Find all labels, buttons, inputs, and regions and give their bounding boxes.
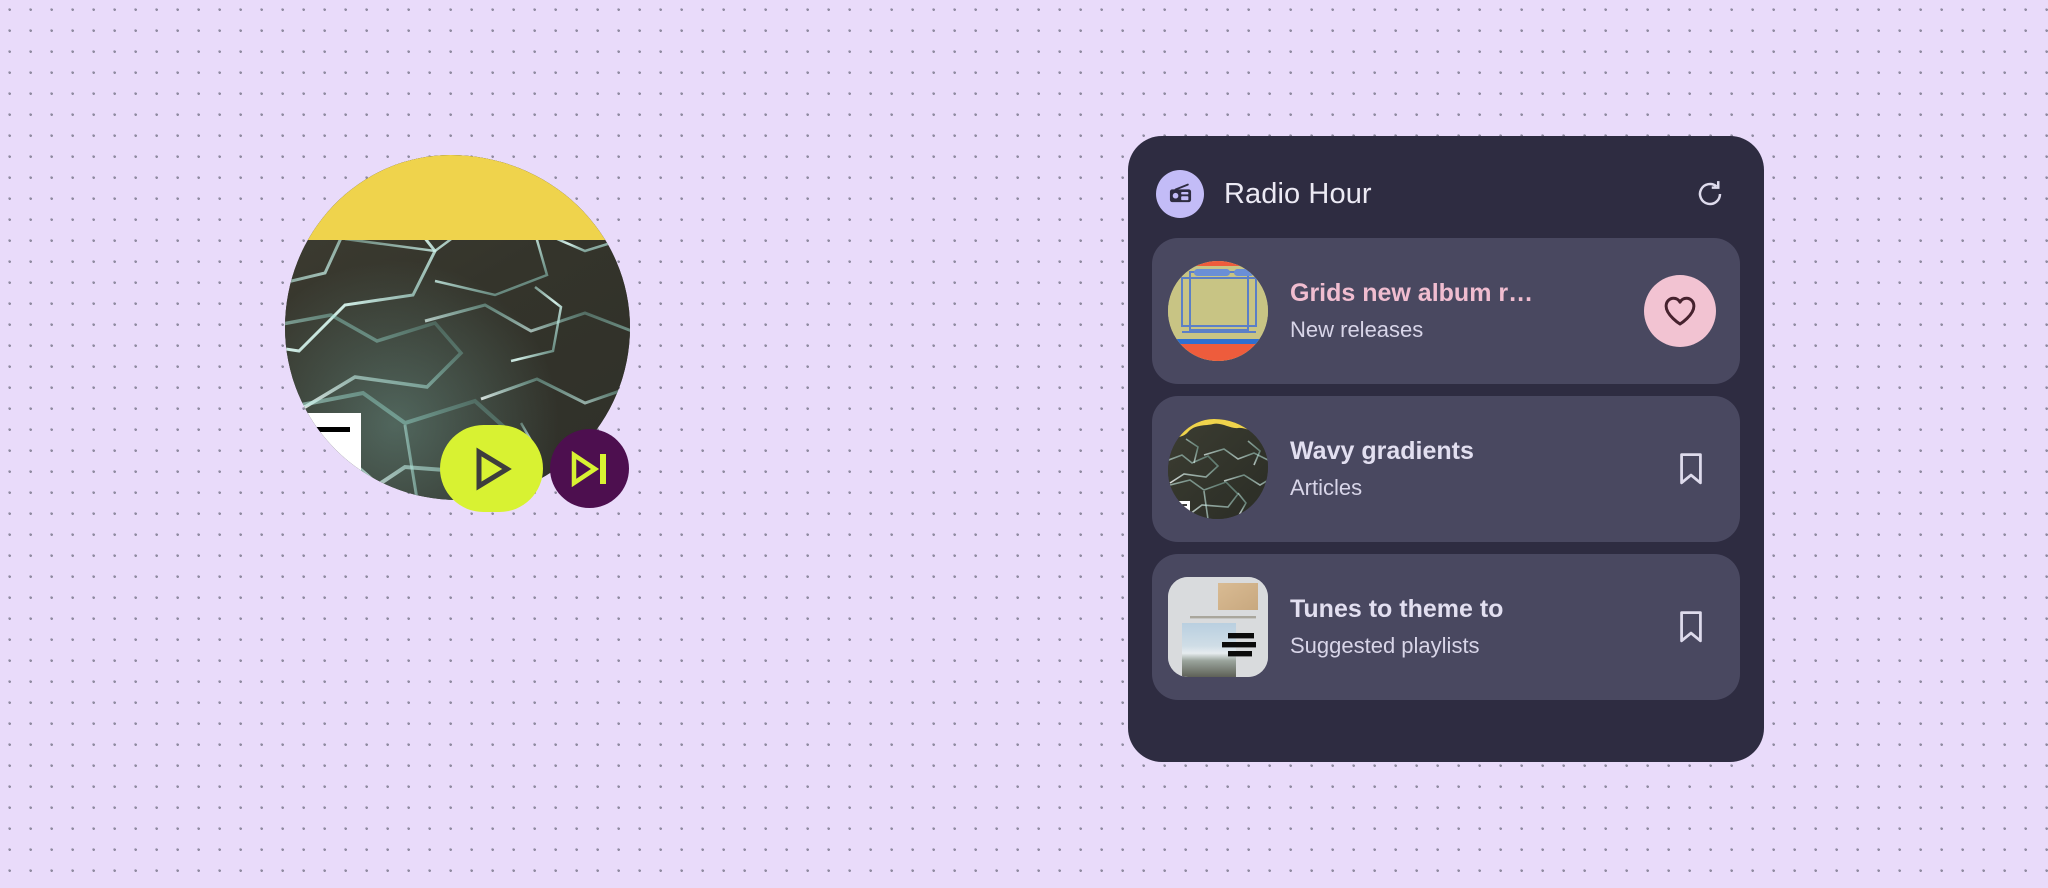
item-text: Grids new album r… New releases (1290, 278, 1644, 344)
widget-header: Radio Hour (1152, 158, 1740, 230)
item-title: Wavy gradients (1290, 436, 1666, 467)
wavy-thumbnail-art (1168, 419, 1268, 519)
list-item[interactable]: Tunes to theme to Suggested playlists (1152, 554, 1740, 700)
item-subtitle: New releases (1290, 317, 1644, 343)
list-item[interactable]: Wavy gradients Articles (1152, 396, 1740, 542)
list-item[interactable]: Grids new album r… New releases (1152, 238, 1740, 384)
item-title: Grids new album r… (1290, 278, 1644, 309)
tunes-thumbnail (1168, 577, 1268, 677)
radio-icon (1167, 181, 1194, 208)
item-text: Wavy gradients Articles (1290, 436, 1666, 502)
refresh-icon (1695, 179, 1725, 209)
grids-thumbnail-art (1168, 261, 1268, 361)
radio-hour-widget: Radio Hour (1128, 136, 1764, 762)
item-subtitle: Articles (1290, 475, 1666, 501)
radio-badge (1156, 170, 1204, 218)
bookmark-button[interactable] (1666, 444, 1716, 494)
bookmark-button[interactable] (1666, 602, 1716, 652)
heart-icon (1663, 295, 1697, 327)
item-title: Tunes to theme to (1290, 594, 1666, 625)
tunes-thumbnail-art (1168, 577, 1268, 677)
refresh-button[interactable] (1688, 172, 1732, 216)
wavy-thumbnail (1168, 419, 1268, 519)
item-text: Tunes to theme to Suggested playlists (1290, 594, 1666, 660)
play-button[interactable] (440, 425, 543, 512)
artwork-yellow-cap (285, 155, 630, 240)
skip-next-icon (569, 451, 611, 487)
play-triangle-icon (471, 447, 513, 491)
favorite-button[interactable] (1644, 275, 1716, 347)
page-title: Radio Hour (1224, 178, 1372, 211)
item-subtitle: Suggested playlists (1290, 633, 1666, 659)
bookmark-icon (1676, 451, 1706, 487)
artwork-corner-mark (299, 413, 361, 475)
grids-thumbnail (1168, 261, 1268, 361)
next-track-button[interactable] (550, 429, 629, 508)
bookmark-icon (1676, 609, 1706, 645)
radio-item-list: Grids new album r… New releases (1152, 238, 1740, 700)
